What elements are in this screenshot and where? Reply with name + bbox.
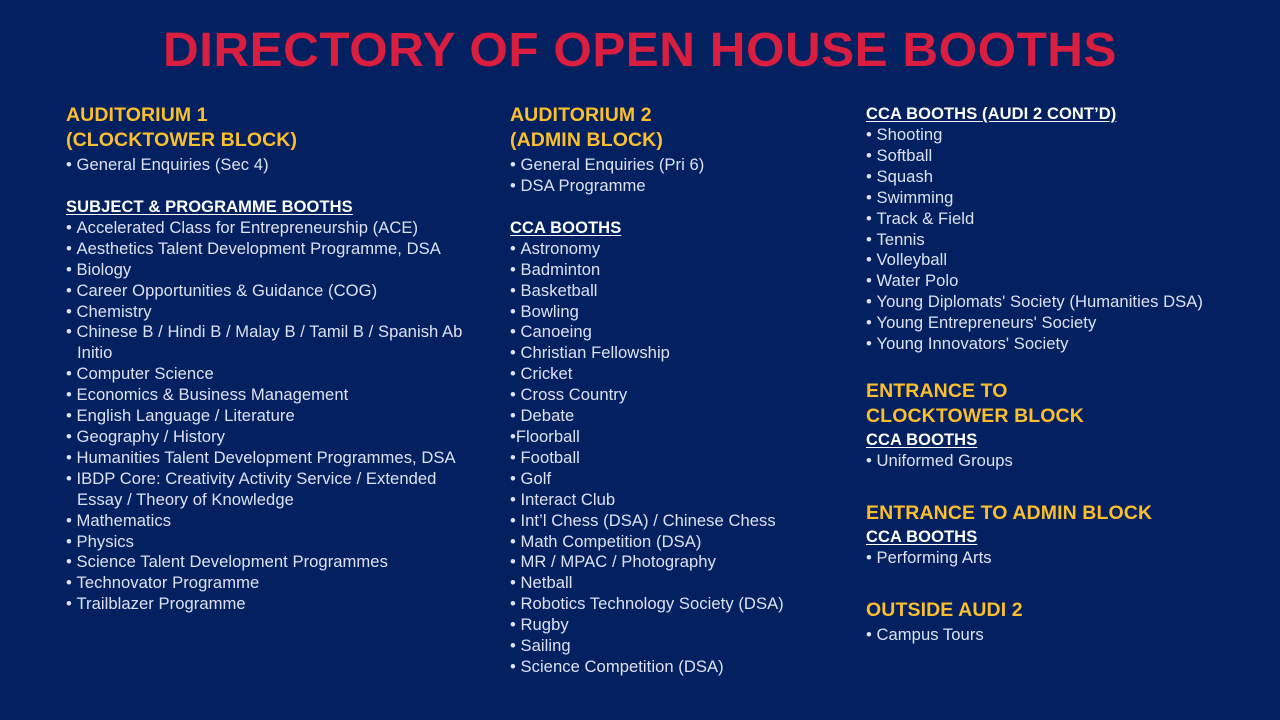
bullet-icon: • bbox=[866, 188, 872, 207]
bullet-icon: • bbox=[510, 594, 516, 613]
booth-label: Accelerated Class for Entrepreneurship (… bbox=[76, 218, 418, 237]
list-item: • Humanities Talent Development Programm… bbox=[66, 448, 466, 469]
list-item: • Computer Science bbox=[66, 364, 466, 385]
bullet-icon: • bbox=[866, 625, 872, 644]
bullet-icon: • bbox=[510, 552, 516, 571]
booth-label: Geography / History bbox=[76, 427, 225, 446]
booth-label: Campus Tours bbox=[876, 625, 983, 644]
section-auditorium-2: AUDITORIUM 2 (ADMIN BLOCK) • General Enq… bbox=[510, 103, 840, 197]
booth-label: Robotics Technology Society (DSA) bbox=[520, 594, 783, 613]
booth-label: Career Opportunities & Guidance (COG) bbox=[76, 281, 377, 300]
bullet-icon: • bbox=[66, 155, 72, 174]
list-item: • Squash bbox=[866, 167, 1266, 188]
booth-list-outside-audi-2: • Campus Tours bbox=[866, 625, 1266, 646]
bullet-icon: • bbox=[510, 155, 516, 174]
list-item: • Chemistry bbox=[66, 302, 466, 323]
list-item: • Netball bbox=[510, 573, 840, 594]
section-cca-booths-contd: CCA BOOTHS (AUDI 2 CONT’D) • Shooting • … bbox=[866, 103, 1266, 355]
booth-list-cca-contd: • Shooting • Softball • Squash • Swimmin… bbox=[866, 125, 1266, 355]
bullet-icon: • bbox=[66, 406, 72, 425]
booth-label: Young Entrepreneurs' Society bbox=[876, 313, 1096, 332]
booth-label: DSA Programme bbox=[520, 176, 645, 195]
booth-label: Young Diplomats' Society (Humanities DSA… bbox=[876, 292, 1202, 311]
directory-column-1: AUDITORIUM 1 (CLOCKTOWER BLOCK) • Genera… bbox=[66, 103, 466, 615]
section-heading-entrance-clocktower: ENTRANCE TO CLOCKTOWER BLOCK bbox=[866, 379, 1266, 429]
list-item: • Trailblazer Programme bbox=[66, 594, 466, 615]
section-heading-outside-audi-2: OUTSIDE AUDI 2 bbox=[866, 598, 1266, 623]
list-item: • Performing Arts bbox=[866, 548, 1266, 569]
list-item: • Swimming bbox=[866, 188, 1266, 209]
bullet-icon: • bbox=[66, 594, 72, 613]
section-heading-subject-programme-booths: SUBJECT & PROGRAMME BOOTHS bbox=[66, 196, 466, 218]
section-outside-audi-2: OUTSIDE AUDI 2 • Campus Tours bbox=[866, 598, 1266, 646]
list-item: • Canoeing bbox=[510, 322, 840, 343]
list-item: • Accelerated Class for Entrepreneurship… bbox=[66, 218, 466, 239]
booth-list-entrance-admin-block: • Performing Arts bbox=[866, 548, 1266, 569]
list-item: • Int’l Chess (DSA) / Chinese Chess bbox=[510, 511, 840, 532]
section-heading-cca-booths: CCA BOOTHS bbox=[510, 217, 840, 239]
list-item: • Track & Field bbox=[866, 209, 1266, 230]
list-item: • Cricket bbox=[510, 364, 840, 385]
list-item: • Sailing bbox=[510, 636, 840, 657]
booth-label: Economics & Business Management bbox=[76, 385, 348, 404]
booth-label: Physics bbox=[76, 532, 134, 551]
bullet-icon: • bbox=[510, 406, 516, 425]
list-item: • MR / MPAC / Photography bbox=[510, 552, 840, 573]
list-item: • DSA Programme bbox=[510, 176, 840, 197]
bullet-icon: • bbox=[510, 239, 516, 258]
booth-label: Track & Field bbox=[876, 209, 974, 228]
booth-label: Science Competition (DSA) bbox=[520, 657, 723, 676]
list-item: • IBDP Core: Creativity Activity Service… bbox=[66, 469, 466, 511]
list-item: • Cross Country bbox=[510, 385, 840, 406]
bullet-icon: • bbox=[510, 364, 516, 383]
bullet-icon: • bbox=[66, 260, 72, 279]
bullet-icon: • bbox=[866, 167, 872, 186]
list-item: • Bowling bbox=[510, 302, 840, 323]
booth-label: Uniformed Groups bbox=[876, 451, 1012, 470]
list-item: • General Enquiries (Pri 6) bbox=[510, 155, 840, 176]
list-item: • Young Entrepreneurs' Society bbox=[866, 313, 1266, 334]
booth-label: Mathematics bbox=[76, 511, 171, 530]
list-item: • Debate bbox=[510, 406, 840, 427]
booth-label: Christian Fellowship bbox=[520, 343, 669, 362]
booth-label: Humanities Talent Development Programmes… bbox=[76, 448, 455, 467]
bullet-icon: • bbox=[510, 469, 516, 488]
booth-label: Astronomy bbox=[520, 239, 600, 258]
booth-list-entrance-clocktower: • Uniformed Groups bbox=[866, 451, 1266, 472]
bullet-icon: • bbox=[66, 469, 72, 488]
booth-label: English Language / Literature bbox=[76, 406, 294, 425]
section-subject-and-programme-booths: SUBJECT & PROGRAMME BOOTHS • Accelerated… bbox=[66, 196, 466, 615]
booth-directory-columns: AUDITORIUM 1 (CLOCKTOWER BLOCK) • Genera… bbox=[0, 103, 1280, 715]
booth-label: Bowling bbox=[520, 302, 578, 321]
bullet-icon: • bbox=[66, 385, 72, 404]
bullet-icon: • bbox=[866, 146, 872, 165]
list-item: • Physics bbox=[66, 532, 466, 553]
booth-label: Golf bbox=[520, 469, 551, 488]
booth-label: Swimming bbox=[876, 188, 953, 207]
list-item: • Shooting bbox=[866, 125, 1266, 146]
directory-column-2: AUDITORIUM 2 (ADMIN BLOCK) • General Enq… bbox=[510, 103, 840, 678]
list-item: • Technovator Programme bbox=[66, 573, 466, 594]
booth-label: Performing Arts bbox=[876, 548, 991, 567]
booth-label: Squash bbox=[876, 167, 933, 186]
section-auditorium-1: AUDITORIUM 1 (CLOCKTOWER BLOCK) • Genera… bbox=[66, 103, 466, 176]
list-item: • Robotics Technology Society (DSA) bbox=[510, 594, 840, 615]
bullet-icon: • bbox=[510, 343, 516, 362]
booth-list-auditorium-1: • General Enquiries (Sec 4) bbox=[66, 155, 466, 176]
bullet-icon: • bbox=[510, 281, 516, 300]
list-item: • Basketball bbox=[510, 281, 840, 302]
list-item: • Chinese B / Hindi B / Malay B / Tamil … bbox=[66, 322, 466, 364]
booth-list-subject-programme: • Accelerated Class for Entrepreneurship… bbox=[66, 218, 466, 615]
bullet-icon: • bbox=[66, 281, 72, 300]
bullet-icon: • bbox=[66, 511, 72, 530]
booth-label: Football bbox=[520, 448, 579, 467]
bullet-icon: • bbox=[866, 209, 872, 228]
booth-label: Computer Science bbox=[76, 364, 213, 383]
booth-label: Science Talent Development Programmes bbox=[76, 552, 387, 571]
bullet-icon: • bbox=[866, 230, 872, 249]
section-entrance-admin-block: ENTRANCE TO ADMIN BLOCK CCA BOOTHS • Per… bbox=[866, 501, 1266, 569]
booth-label: Volleyball bbox=[876, 250, 947, 269]
list-item: • Mathematics bbox=[66, 511, 466, 532]
bullet-icon: • bbox=[866, 292, 872, 311]
booth-list-auditorium-2: • General Enquiries (Pri 6) • DSA Progra… bbox=[510, 155, 840, 197]
bullet-icon: • bbox=[866, 548, 872, 567]
booth-label: Chemistry bbox=[76, 302, 151, 321]
booth-label: Sailing bbox=[520, 636, 570, 655]
booth-label: Softball bbox=[876, 146, 932, 165]
bullet-icon: • bbox=[510, 322, 516, 341]
list-item: • Water Polo bbox=[866, 271, 1266, 292]
booth-label: Int’l Chess (DSA) / Chinese Chess bbox=[520, 511, 775, 530]
list-item: • General Enquiries (Sec 4) bbox=[66, 155, 466, 176]
bullet-icon: • bbox=[510, 532, 516, 551]
list-item: • Campus Tours bbox=[866, 625, 1266, 646]
booth-label: Netball bbox=[520, 573, 572, 592]
bullet-icon: • bbox=[66, 532, 72, 551]
booth-label: Chinese B / Hindi B / Malay B / Tamil B … bbox=[76, 322, 462, 362]
booth-label: Biology bbox=[76, 260, 131, 279]
list-item: • Rugby bbox=[510, 615, 840, 636]
list-item: • Young Diplomats' Society (Humanities D… bbox=[866, 292, 1266, 313]
booth-label: Canoeing bbox=[520, 322, 591, 341]
list-item: • Volleyball bbox=[866, 250, 1266, 271]
bullet-icon: • bbox=[66, 427, 72, 446]
list-item: • Math Competition (DSA) bbox=[510, 532, 840, 553]
list-item: • Tennis bbox=[866, 230, 1266, 251]
list-item: • Career Opportunities & Guidance (COG) bbox=[66, 281, 466, 302]
list-item: • Young Innovators' Society bbox=[866, 334, 1266, 355]
list-item: • Science Competition (DSA) bbox=[510, 657, 840, 678]
bullet-icon: • bbox=[866, 271, 872, 290]
bullet-icon: • bbox=[866, 334, 872, 353]
list-item: • Economics & Business Management bbox=[66, 385, 466, 406]
list-item: • Golf bbox=[510, 469, 840, 490]
page-title: DIRECTORY OF OPEN HOUSE BOOTHS bbox=[0, 24, 1280, 78]
list-item: • Interact Club bbox=[510, 490, 840, 511]
list-item: •Floorball bbox=[510, 427, 840, 448]
bullet-icon: • bbox=[510, 385, 516, 404]
bullet-icon: • bbox=[510, 176, 516, 195]
section-heading-auditorium-1: AUDITORIUM 1 (CLOCKTOWER BLOCK) bbox=[66, 103, 466, 153]
bullet-icon: • bbox=[510, 573, 516, 592]
section-entrance-clocktower: ENTRANCE TO CLOCKTOWER BLOCK CCA BOOTHS … bbox=[866, 379, 1266, 472]
booth-label: Cricket bbox=[520, 364, 572, 383]
booth-label: Interact Club bbox=[520, 490, 615, 509]
bullet-icon: • bbox=[66, 573, 72, 592]
booth-label: MR / MPAC / Photography bbox=[520, 552, 715, 571]
bullet-icon: • bbox=[866, 313, 872, 332]
bullet-icon: • bbox=[66, 448, 72, 467]
booth-label: Cross Country bbox=[520, 385, 627, 404]
bullet-icon: • bbox=[866, 250, 872, 269]
bullet-icon: • bbox=[510, 511, 516, 530]
bullet-icon: • bbox=[510, 636, 516, 655]
booth-label: Shooting bbox=[876, 125, 942, 144]
booth-list-cca: • Astronomy • Badminton • Basketball • B… bbox=[510, 239, 840, 678]
booth-label: General Enquiries (Sec 4) bbox=[76, 155, 268, 174]
booth-label: Rugby bbox=[520, 615, 568, 634]
bullet-icon: • bbox=[66, 322, 72, 341]
list-item: • Christian Fellowship bbox=[510, 343, 840, 364]
bullet-icon: • bbox=[866, 125, 872, 144]
bullet-icon: • bbox=[510, 490, 516, 509]
list-item: • Aesthetics Talent Development Programm… bbox=[66, 239, 466, 260]
section-heading-auditorium-2: AUDITORIUM 2 (ADMIN BLOCK) bbox=[510, 103, 840, 153]
list-item: • Softball bbox=[866, 146, 1266, 167]
booth-label: Debate bbox=[520, 406, 574, 425]
section-cca-booths: CCA BOOTHS • Astronomy • Badminton • Bas… bbox=[510, 217, 840, 678]
booth-label: Technovator Programme bbox=[76, 573, 259, 592]
booth-label: Young Innovators' Society bbox=[876, 334, 1068, 353]
bullet-icon: • bbox=[510, 448, 516, 467]
list-item: • Science Talent Development Programmes bbox=[66, 552, 466, 573]
booth-label: Math Competition (DSA) bbox=[520, 532, 701, 551]
list-item: • Geography / History bbox=[66, 427, 466, 448]
directory-column-3: CCA BOOTHS (AUDI 2 CONT’D) • Shooting • … bbox=[866, 103, 1266, 646]
booth-label: Aesthetics Talent Development Programme,… bbox=[76, 239, 440, 258]
bullet-icon: • bbox=[510, 302, 516, 321]
booth-label: Floorball bbox=[516, 427, 580, 446]
booth-label: IBDP Core: Creativity Activity Service /… bbox=[76, 469, 436, 509]
bullet-icon: • bbox=[510, 657, 516, 676]
bullet-icon: • bbox=[66, 302, 72, 321]
section-subheading-cca-booths-admin: CCA BOOTHS bbox=[866, 526, 1266, 548]
booth-label: Badminton bbox=[520, 260, 600, 279]
section-heading-entrance-admin-block: ENTRANCE TO ADMIN BLOCK bbox=[866, 501, 1266, 526]
booth-label: Basketball bbox=[520, 281, 597, 300]
list-item: • English Language / Literature bbox=[66, 406, 466, 427]
bullet-icon: • bbox=[510, 260, 516, 279]
list-item: • Badminton bbox=[510, 260, 840, 281]
list-item: • Uniformed Groups bbox=[866, 451, 1266, 472]
booth-label: Water Polo bbox=[876, 271, 958, 290]
slide-root: DIRECTORY OF OPEN HOUSE BOOTHS AUDITORIU… bbox=[0, 0, 1280, 720]
section-subheading-cca-booths-clocktower: CCA BOOTHS bbox=[866, 429, 1266, 451]
bullet-icon: • bbox=[510, 615, 516, 634]
list-item: • Biology bbox=[66, 260, 466, 281]
section-heading-cca-booths-contd: CCA BOOTHS (AUDI 2 CONT’D) bbox=[866, 103, 1266, 125]
booth-label: Trailblazer Programme bbox=[76, 594, 245, 613]
list-item: • Football bbox=[510, 448, 840, 469]
bullet-icon: • bbox=[866, 451, 872, 470]
bullet-icon: • bbox=[66, 364, 72, 383]
booth-label: General Enquiries (Pri 6) bbox=[520, 155, 704, 174]
booth-label: Tennis bbox=[876, 230, 924, 249]
bullet-icon: • bbox=[66, 552, 72, 571]
bullet-icon: • bbox=[66, 218, 72, 237]
bullet-icon: • bbox=[66, 239, 72, 258]
list-item: • Astronomy bbox=[510, 239, 840, 260]
